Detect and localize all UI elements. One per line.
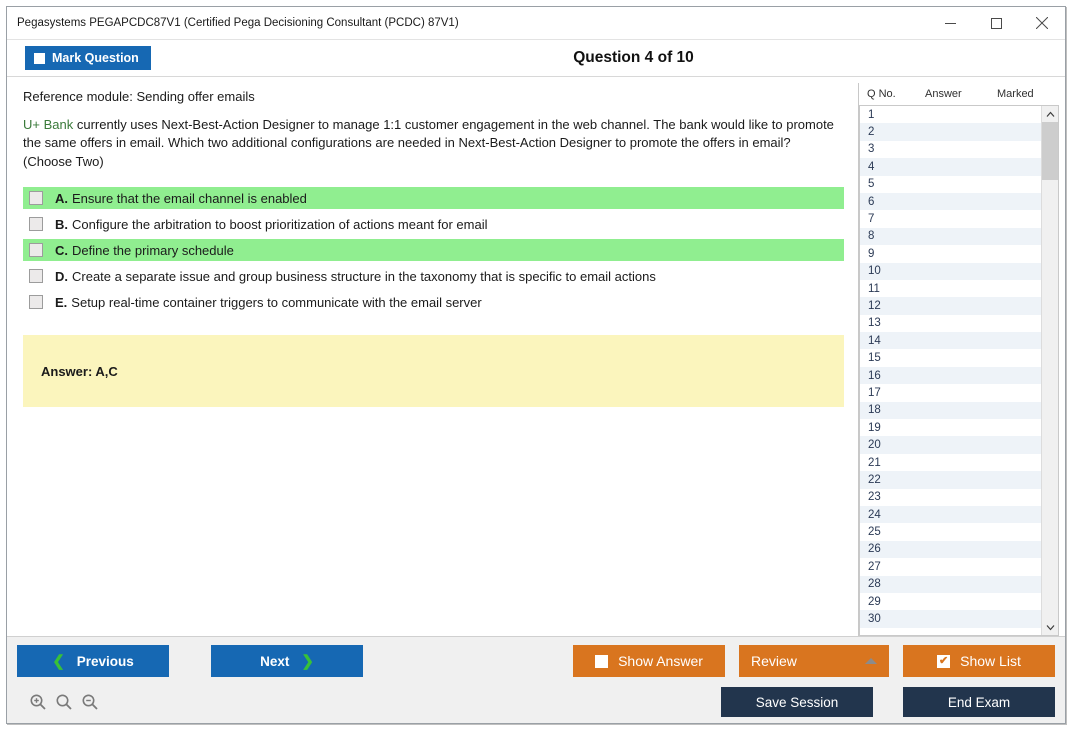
question-list-row-qno: 7: [860, 213, 918, 225]
column-header-qno: Q No.: [859, 88, 925, 100]
question-list-row[interactable]: 21: [860, 454, 1041, 471]
question-list-scrollbar[interactable]: [1041, 106, 1058, 635]
question-list-row-qno: 18: [860, 404, 918, 416]
window-controls: [927, 7, 1065, 39]
answer-options: A. Ensure that the email channel is enab…: [23, 187, 844, 313]
question-list-row[interactable]: 9: [860, 245, 1041, 262]
option-row-d[interactable]: D. Create a separate issue and group bus…: [23, 265, 844, 287]
question-list-header: Q No. Answer Marked: [859, 83, 1059, 106]
question-list-row[interactable]: 20: [860, 436, 1041, 453]
question-list-row-qno: 24: [860, 509, 918, 521]
question-list-row[interactable]: 25: [860, 523, 1041, 540]
question-list-row-qno: 20: [860, 439, 918, 451]
show-answer-label: Show Answer: [618, 653, 703, 669]
window-title: Pegasystems PEGAPCDC87V1 (Certified Pega…: [7, 17, 927, 29]
question-list-row[interactable]: 29: [860, 593, 1041, 610]
question-list-row[interactable]: 18: [860, 402, 1041, 419]
option-letter-b: B.: [55, 217, 68, 232]
option-row-a[interactable]: A. Ensure that the email channel is enab…: [23, 187, 844, 209]
option-letter-c: C.: [55, 243, 68, 258]
option-checkbox-e[interactable]: [29, 295, 43, 309]
question-list-row-qno: 25: [860, 526, 918, 538]
question-list-row-qno: 17: [860, 387, 918, 399]
question-list-row-qno: 12: [860, 300, 918, 312]
end-exam-button[interactable]: End Exam: [903, 687, 1055, 717]
question-list-pane: Q No. Answer Marked 12345678910111213141…: [858, 83, 1059, 636]
question-list-row-qno: 2: [860, 126, 918, 138]
question-counter: Question 4 of 10: [7, 49, 1065, 67]
question-list-row-qno: 4: [860, 161, 918, 173]
question-list-row-qno: 15: [860, 352, 918, 364]
option-letter-d: D.: [55, 269, 68, 284]
title-bar: Pegasystems PEGAPCDC87V1 (Certified Pega…: [7, 7, 1065, 40]
scroll-up-icon[interactable]: [1042, 106, 1058, 122]
question-list-row[interactable]: 15: [860, 349, 1041, 366]
option-letter-e: E.: [55, 295, 67, 310]
chevron-up-icon: [865, 658, 877, 664]
previous-button[interactable]: ❮ Previous: [17, 645, 169, 677]
save-session-label: Save Session: [756, 695, 839, 710]
option-checkbox-b[interactable]: [29, 217, 43, 231]
question-list-row[interactable]: 30: [860, 610, 1041, 627]
option-text-c: Define the primary schedule: [72, 243, 234, 258]
mark-question-button[interactable]: Mark Question: [25, 46, 151, 70]
question-list-row[interactable]: 10: [860, 263, 1041, 280]
question-list-row-qno: 1: [860, 109, 918, 121]
scrollbar-track[interactable]: [1042, 122, 1058, 619]
option-text-a: Ensure that the email channel is enabled: [72, 191, 307, 206]
question-list-row[interactable]: 2: [860, 123, 1041, 140]
chevron-right-icon: ❯: [301, 654, 314, 669]
option-text-b: Configure the arbitration to boost prior…: [72, 217, 488, 232]
end-exam-label: End Exam: [948, 695, 1010, 710]
option-text-d: Create a separate issue and group busine…: [72, 269, 656, 284]
question-list-row-qno: 26: [860, 543, 918, 555]
question-list-row[interactable]: 26: [860, 541, 1041, 558]
option-checkbox-a[interactable]: [29, 191, 43, 205]
option-row-e[interactable]: E. Setup real-time container triggers to…: [23, 291, 844, 313]
option-row-c[interactable]: C. Define the primary schedule: [23, 239, 844, 261]
show-answer-button[interactable]: Show Answer: [573, 645, 725, 677]
close-icon[interactable]: [1019, 7, 1065, 39]
question-list-row-qno: 13: [860, 317, 918, 329]
question-list-row-qno: 6: [860, 196, 918, 208]
question-list-row[interactable]: 12: [860, 297, 1041, 314]
question-list-row[interactable]: 17: [860, 384, 1041, 401]
mark-question-checkbox-icon: [34, 53, 45, 64]
next-button[interactable]: Next ❯: [211, 645, 363, 677]
maximize-icon[interactable]: [973, 7, 1019, 39]
footer-toolbar: ❮ Previous Next ❯ Show Answer Review ✔ S…: [7, 636, 1065, 723]
review-dropdown[interactable]: Review: [739, 645, 889, 677]
body-area: Reference module: Sending offer emails U…: [7, 77, 1065, 636]
option-letter-a: A.: [55, 191, 68, 206]
question-list-row-qno: 21: [860, 457, 918, 469]
question-list-row[interactable]: 7: [860, 210, 1041, 227]
question-list-row-qno: 30: [860, 613, 918, 625]
option-checkbox-c[interactable]: [29, 243, 43, 257]
answer-label: Answer: A,C: [41, 364, 118, 379]
zoom-tools: [17, 693, 99, 711]
question-list-row-qno: 16: [860, 370, 918, 382]
question-list-row-qno: 22: [860, 474, 918, 486]
question-list-row[interactable]: 1: [860, 106, 1041, 123]
question-list-row[interactable]: 23: [860, 489, 1041, 506]
question-list-row[interactable]: 5: [860, 176, 1041, 193]
question-list-row[interactable]: 4: [860, 158, 1041, 175]
option-text-e: Setup real-time container triggers to co…: [71, 295, 481, 310]
question-list-row[interactable]: 27: [860, 558, 1041, 575]
show-answer-checkbox-icon: [595, 655, 608, 668]
show-list-label: Show List: [960, 653, 1021, 669]
question-list-row-qno: 9: [860, 248, 918, 260]
question-list-row-qno: 28: [860, 578, 918, 590]
show-list-button[interactable]: ✔ Show List: [903, 645, 1055, 677]
next-label: Next: [260, 654, 289, 669]
question-list-row[interactable]: 14: [860, 332, 1041, 349]
question-list-row[interactable]: 16: [860, 367, 1041, 384]
question-list-row-qno: 19: [860, 422, 918, 434]
option-checkbox-d[interactable]: [29, 269, 43, 283]
zoom-reset-icon[interactable]: [55, 693, 73, 711]
question-list-row-qno: 11: [860, 283, 918, 295]
question-list-row-qno: 29: [860, 596, 918, 608]
mark-question-label: Mark Question: [52, 51, 139, 65]
question-list-row-qno: 27: [860, 561, 918, 573]
answer-box: Answer: A,C: [23, 335, 844, 407]
question-list-row[interactable]: 24: [860, 506, 1041, 523]
question-list-row[interactable]: 28: [860, 576, 1041, 593]
question-list-row[interactable]: 6: [860, 193, 1041, 210]
footer-row-secondary: Save Session End Exam: [17, 687, 1055, 717]
column-header-marked: Marked: [997, 88, 1059, 100]
question-list-row-qno: 5: [860, 178, 918, 190]
footer-row-primary: ❮ Previous Next ❯ Show Answer Review ✔ S…: [17, 645, 1055, 677]
question-list-row-qno: 14: [860, 335, 918, 347]
question-list-row[interactable]: 11: [860, 280, 1041, 297]
question-list-row[interactable]: 19: [860, 419, 1041, 436]
minimize-icon[interactable]: [927, 7, 973, 39]
previous-label: Previous: [77, 654, 134, 669]
review-label: Review: [751, 653, 797, 669]
question-list-row[interactable]: 13: [860, 315, 1041, 332]
question-lead: U+ Bank: [23, 117, 73, 132]
question-list-row-qno: 23: [860, 491, 918, 503]
scrollbar-thumb[interactable]: [1042, 122, 1058, 180]
scroll-down-icon[interactable]: [1042, 619, 1058, 635]
question-list-row-qno: 8: [860, 230, 918, 242]
question-list-row[interactable]: 22: [860, 471, 1041, 488]
option-row-b[interactable]: B. Configure the arbitration to boost pr…: [23, 213, 844, 235]
question-header-bar: Mark Question Question 4 of 10: [7, 40, 1065, 77]
exam-window: Pegasystems PEGAPCDC87V1 (Certified Pega…: [6, 6, 1066, 724]
reference-module: Reference module: Sending offer emails: [23, 89, 844, 104]
question-list-rows[interactable]: 1234567891011121314151617181920212223242…: [860, 106, 1041, 635]
zoom-in-icon[interactable]: [29, 693, 47, 711]
column-header-answer: Answer: [925, 88, 997, 100]
question-body: currently uses Next-Best-Action Designer…: [23, 117, 834, 169]
zoom-out-icon[interactable]: [81, 693, 99, 711]
question-text: U+ Bank currently uses Next-Best-Action …: [23, 116, 843, 171]
question-list-row-qno: 10: [860, 265, 918, 277]
show-list-checkbox-icon: ✔: [937, 655, 950, 668]
chevron-left-icon: ❮: [52, 654, 65, 669]
question-list-row-qno: 3: [860, 143, 918, 155]
save-session-button[interactable]: Save Session: [721, 687, 873, 717]
question-list-body: 1234567891011121314151617181920212223242…: [859, 106, 1059, 636]
question-list-row[interactable]: 8: [860, 228, 1041, 245]
question-pane: Reference module: Sending offer emails U…: [7, 77, 858, 636]
question-list-row[interactable]: 3: [860, 141, 1041, 158]
